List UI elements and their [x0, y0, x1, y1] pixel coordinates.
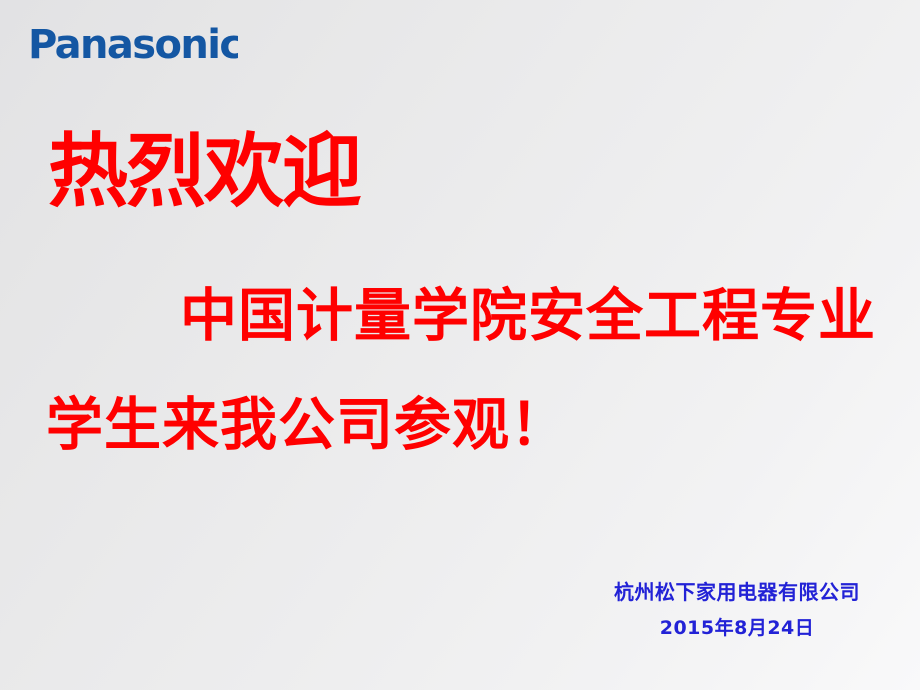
signature-block: 杭州松下家用电器有限公司 2015年8月24日 [614, 582, 860, 638]
headline-welcome: 热烈欢迎 [48, 132, 360, 212]
slide-date: 2015年8月24日 [614, 619, 860, 638]
headline-school-major: 中国计量学院安全工程专业 [180, 288, 876, 345]
company-name: 杭州松下家用电器有限公司 [614, 582, 860, 602]
panasonic-logo-text: Panasonic [28, 24, 238, 68]
presentation-slide: Panasonic 热烈欢迎 中国计量学院安全工程专业 学生来我公司参观！ 杭州… [0, 0, 920, 690]
panasonic-logo-icon: Panasonic [28, 24, 238, 68]
panasonic-logo: Panasonic [28, 24, 238, 68]
headline-students-visit: 学生来我公司参观！ [46, 397, 568, 454]
